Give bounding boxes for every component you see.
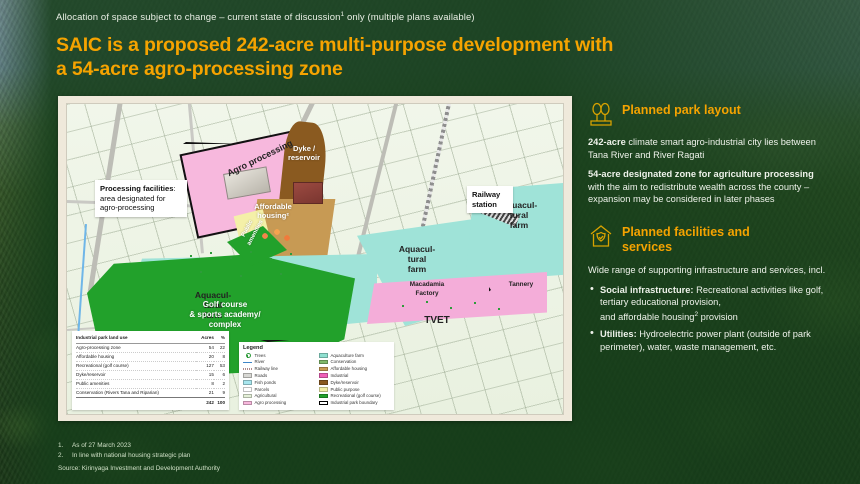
table-row: Public amenities82 [76,379,225,388]
railway-station-label: Railway station [472,190,500,209]
boundary-swatch [319,401,328,406]
legend-item: Conservation [319,359,390,364]
legend-label: Aquaculture farm [331,353,364,358]
footnote-item: 1.As of 27 March 2023 [58,441,220,451]
legend-item: Recreational (golf course) [319,393,390,398]
color-swatch [319,353,328,358]
color-swatch [319,387,328,392]
table-cell-use: Recreational (golf course) [76,361,196,370]
source-line: Source: Kirinyaga Investment and Develop… [58,464,220,474]
section-title: Planned facilities and services [622,222,750,255]
map-canvas[interactable]: Agro processing Dyke /reservoir Affordab… [66,103,564,415]
legend-item: Fish ponds [243,380,314,385]
text-54-acre-rest: with the aim to redistribute wealth acro… [588,182,809,205]
map-label-macadamia-factory: MacadamiaFactory [397,280,457,298]
color-swatch [243,394,252,399]
map-label-dyke-reservoir: Dyke /reservoir [283,144,325,162]
legend-column-left: TreesRiverRailway lineRoadsFish pondsPar… [243,353,314,407]
page-title: SAIC is a proposed 242-acre multi-purpos… [56,33,756,81]
legend-item: Agro processing [243,400,314,405]
bold-54-acre: 54-acre designated zone for agriculture … [588,169,814,179]
land-use-table[interactable]: Industrial park land use Acres % Agro-pr… [72,331,229,410]
table-cell-acres: 127 [196,361,214,370]
table-row: Agro-processing zone5422 [76,343,225,352]
legend-label: Conservation [331,359,357,364]
table-cell-acres: 8 [196,379,214,388]
section-planned-facilities-body: Wide range of supporting infrastructure … [588,264,828,354]
trees-icon [588,101,614,127]
map-label-golf-complex: Golf course& sports academy/complex [165,300,285,330]
table-cell-use: Dyke/reservoir [76,370,196,379]
legend-item: Parcels [243,387,314,392]
section-planned-park-layout-body: 242-acre climate smart agro-industrial c… [588,136,828,206]
legend-item: Dyke/reservoir [319,380,390,385]
table-cell-pct: 6 [214,370,225,379]
color-swatch [319,360,328,365]
callout-processing-facilities: Processing facilities: area designated f… [95,180,187,217]
trees-symbol-cluster [397,300,527,330]
map-label-tannery: Tannery [497,280,545,289]
legend-label: Railway line [255,366,278,371]
color-swatch [319,380,328,385]
bullet-text-end: provision [698,312,738,322]
table-cell-pct: 22 [214,343,225,352]
legend-item: Railway line [243,366,314,371]
callout-bold-label: Processing facilities [100,184,173,193]
kicker-post: only (multiple plans available) [344,12,474,23]
color-swatch [319,373,328,378]
bullet-text-cont: and affordable housing [600,312,694,322]
legend-column-right: Aquaculture farmConservationAffordable h… [319,353,390,407]
table-total-row: 242100 [76,397,225,407]
railway-icon [243,367,252,372]
table-total-pct: 100 [214,397,225,407]
legend-label: Agricultural [255,393,277,398]
table-row: Recreational (golf course)12753 [76,361,225,370]
housing-cluster-icon [259,224,295,246]
trees-symbol-cluster [185,250,345,290]
table-cell-use: Affordable housing [76,352,196,361]
table-total-acres: 242 [196,397,214,407]
table-cell-pct: 9 [214,388,225,397]
legend-label: Recreational (golf course) [331,393,381,398]
facilities-intro: Wide range of supporting infrastructure … [588,264,828,277]
headline-line-1: SAIC is a proposed 242-acre multi-purpos… [56,33,756,57]
section-planned-park-layout-header: Planned park layout [588,100,828,127]
headline-line-2: a 54-acre agro-processing zone [56,57,756,81]
section-planned-facilities-header: Planned facilities and services [588,222,828,255]
legend-item: Affordable housing [319,366,390,371]
map-label-aquaculture-farm: Aquacul-turalfarm [389,244,445,274]
table-header-row: Industrial park land use Acres % [76,334,225,343]
footnote-text: As of 27 March 2023 [72,441,131,451]
table-cell-pct: 8 [214,352,225,361]
table-row: Affordable housing208 [76,352,225,361]
table-cell-acres: 20 [196,352,214,361]
legend-label: Public purpose [331,387,360,392]
table-cell-use: Public amenities [76,379,196,388]
facility-bullet: Social infrastructure: Recreational acti… [588,284,828,324]
facilities-bullet-list: Social infrastructure: Recreational acti… [588,284,828,354]
river-icon [243,360,252,365]
table-cell-pct: 2 [214,379,225,388]
callout-railway-station: Railway station [467,186,513,213]
table-total-label [76,397,196,407]
legend-label: Agro processing [255,400,287,405]
section-title: Planned park layout [622,100,741,118]
legend-item: Trees [243,353,314,358]
legend-label: Parcels [255,387,270,392]
section-title-line-2: services [622,240,672,254]
legend-item: Aquaculture farm [319,353,390,358]
color-swatch [243,373,252,378]
table-cell-acres: 21 [196,388,214,397]
bullet-bold-label: Utilities: [600,329,637,339]
info-rail: Planned park layout 242-acre climate sma… [588,100,828,359]
kicker-pre: Allocation of space subject to change – … [56,12,340,23]
paragraph-242-acre: 242-acre climate smart agro-industrial c… [588,136,828,161]
color-swatch [243,380,252,385]
color-swatch [243,401,252,406]
legend-label: Trees [255,353,266,358]
table-header-pct: % [214,334,225,343]
color-swatch [243,387,252,392]
legend-label: Industrial park boundary [331,400,378,405]
table-row: Conservation (Rivers Tana and Riparian)2… [76,388,225,397]
legend-label: Roads [255,373,268,378]
bullet-bold-label: Social infrastructure: [600,285,694,295]
legend-item: Agricultural [243,393,314,398]
legend-item: Industrial [319,373,390,378]
tree-icon [243,353,252,358]
table-cell-acres: 54 [196,343,214,352]
footnote-item: 2.In line with national housing strategi… [58,451,220,461]
legend-item: River [243,359,314,364]
legend-item: Industrial park boundary [319,400,390,405]
house-shield-icon [588,223,614,249]
footnotes: 1.As of 27 March 20232.In line with nati… [58,441,220,474]
table-header-use: Industrial park land use [76,334,196,343]
kicker-text: Allocation of space subject to change – … [56,8,756,25]
map-legend[interactable]: Legend TreesRiverRailway lineRoadsFish p… [239,342,394,410]
legend-label: Dyke/reservoir [331,380,359,385]
legend-title: Legend [243,345,390,351]
map-panel[interactable]: Agro processing Dyke /reservoir Affordab… [58,96,572,421]
legend-label: Fish ponds [255,380,276,385]
table-cell-pct: 53 [214,361,225,370]
table-cell-acres: 15 [196,370,214,379]
facility-bullet: Utilities: Hydroelectric power plant (ou… [588,328,828,353]
table-cell-use: Agro-processing zone [76,343,196,352]
footnote-text: In line with national housing strategic … [72,451,190,461]
legend-label: Industrial [331,373,349,378]
reservoir-building-icon [293,182,323,204]
table-row: Dyke/reservoir156 [76,370,225,379]
legend-item: Roads [243,373,314,378]
table-cell-use: Conservation (Rivers Tana and Riparian) [76,388,196,397]
paragraph-54-acre: 54-acre designated zone for agriculture … [588,168,828,206]
table-header-acres: Acres [196,334,214,343]
bold-242-acre: 242-acre [588,137,626,147]
footnote-number: 2. [58,451,67,461]
map-label-tvet: TVET [417,316,457,325]
footnote-number: 1. [58,441,67,451]
section-title-line-1: Planned facilities and [622,225,750,239]
legend-label: River [255,359,265,364]
legend-item: Public purpose [319,387,390,392]
slide-header: Allocation of space subject to change – … [56,8,756,81]
color-swatch [319,367,328,372]
color-swatch [319,394,328,399]
legend-label: Affordable housing [331,366,368,371]
